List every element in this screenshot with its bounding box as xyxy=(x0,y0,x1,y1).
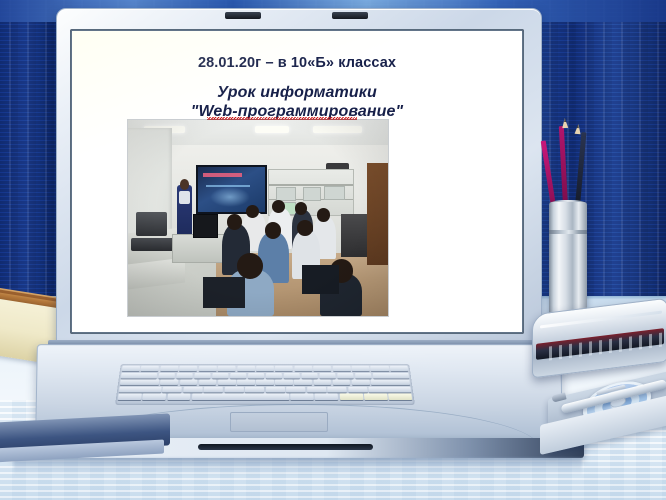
key[interactable] xyxy=(218,366,236,372)
key[interactable] xyxy=(283,373,300,379)
key[interactable] xyxy=(301,373,318,379)
key[interactable] xyxy=(179,366,197,372)
key[interactable] xyxy=(275,380,293,386)
key[interactable] xyxy=(230,373,247,379)
key[interactable] xyxy=(179,380,197,386)
key[interactable] xyxy=(122,366,140,372)
pencil-lead-icon xyxy=(576,124,578,128)
laptop-keyboard[interactable] xyxy=(115,364,415,405)
key[interactable] xyxy=(332,380,350,386)
key[interactable] xyxy=(371,366,389,372)
key[interactable] xyxy=(218,380,236,386)
key-caps[interactable] xyxy=(120,380,160,386)
key[interactable] xyxy=(337,373,354,379)
pencil-cup-band xyxy=(549,230,587,234)
key-shift-right[interactable] xyxy=(368,387,411,393)
key[interactable] xyxy=(266,373,282,379)
key-ctrl[interactable] xyxy=(118,394,142,400)
pencil-lead-icon xyxy=(563,118,565,122)
keyboard-row[interactable] xyxy=(118,394,412,400)
presentation-slide: 28.01.20г – в 10«Б» классах Урок информа… xyxy=(72,31,522,332)
key[interactable] xyxy=(307,387,326,393)
key[interactable] xyxy=(212,373,229,379)
key-space[interactable] xyxy=(192,394,289,400)
keyboard-row[interactable] xyxy=(120,380,410,386)
key-enter[interactable] xyxy=(371,380,411,386)
key[interactable] xyxy=(204,387,223,393)
screen-bezel: 28.01.20г – в 10«Б» классах Урок информа… xyxy=(70,29,524,334)
key[interactable] xyxy=(319,373,336,379)
slide-line-date-class: 28.01.20г – в 10«Б» классах xyxy=(72,55,522,71)
key[interactable] xyxy=(158,373,175,379)
key[interactable] xyxy=(183,387,203,393)
classroom-photo xyxy=(128,120,388,316)
key-alt[interactable] xyxy=(167,394,191,400)
key[interactable] xyxy=(256,380,274,386)
key[interactable] xyxy=(390,366,408,372)
pencil-cup xyxy=(549,202,587,320)
key[interactable] xyxy=(332,366,350,372)
slide-line-lesson-topic: "Web-программирование" xyxy=(191,103,403,121)
key[interactable] xyxy=(351,380,369,386)
key[interactable] xyxy=(199,366,217,372)
key[interactable] xyxy=(160,366,178,372)
slide-line-lesson-title: Урок информатики xyxy=(72,84,522,102)
key[interactable] xyxy=(348,387,368,393)
laptop-latch-slot xyxy=(198,444,373,450)
key[interactable] xyxy=(275,366,293,372)
keyboard-row[interactable] xyxy=(121,373,409,379)
key-backspace[interactable] xyxy=(372,373,409,379)
key[interactable] xyxy=(294,380,312,386)
key-arrow-left[interactable] xyxy=(339,394,363,400)
key[interactable] xyxy=(352,366,370,372)
lid-latch-right-icon xyxy=(332,12,368,19)
laptop-lid: 28.01.20г – в 10«Б» классах Урок информа… xyxy=(56,8,542,348)
key[interactable] xyxy=(248,373,264,379)
key[interactable] xyxy=(141,366,159,372)
photo-vignette xyxy=(128,120,388,316)
key[interactable] xyxy=(199,380,217,386)
keyboard-row[interactable] xyxy=(119,387,411,393)
key[interactable] xyxy=(194,373,211,379)
key[interactable] xyxy=(237,380,255,386)
key[interactable] xyxy=(294,366,312,372)
key[interactable] xyxy=(160,380,178,386)
key[interactable] xyxy=(355,373,372,379)
key[interactable] xyxy=(313,366,331,372)
key-arrow-updown[interactable] xyxy=(364,394,388,400)
key-arrow-right[interactable] xyxy=(388,394,412,400)
key[interactable] xyxy=(313,380,331,386)
key[interactable] xyxy=(266,387,285,393)
lid-latch-left-icon xyxy=(225,12,261,19)
key[interactable] xyxy=(224,387,243,393)
key-ctrl-right[interactable] xyxy=(315,394,338,400)
key[interactable] xyxy=(327,387,347,393)
key[interactable] xyxy=(176,373,193,379)
key[interactable] xyxy=(256,366,274,372)
keyboard-row[interactable] xyxy=(122,366,408,372)
key-tab[interactable] xyxy=(121,373,158,379)
laptop-trackpad[interactable] xyxy=(230,412,328,432)
slide-scene: 28.01.20г – в 10«Б» классах Урок информа… xyxy=(0,0,666,500)
key[interactable] xyxy=(237,366,255,372)
key[interactable] xyxy=(245,387,264,393)
laptop-desk-reflection xyxy=(14,458,582,476)
key-fn[interactable] xyxy=(142,394,166,400)
key[interactable] xyxy=(286,387,305,393)
key-shift[interactable] xyxy=(119,387,162,393)
key[interactable] xyxy=(163,387,183,393)
laptop-screen: 28.01.20г – в 10«Б» классах Урок информа… xyxy=(72,31,522,332)
key-alt-right[interactable] xyxy=(290,394,313,400)
